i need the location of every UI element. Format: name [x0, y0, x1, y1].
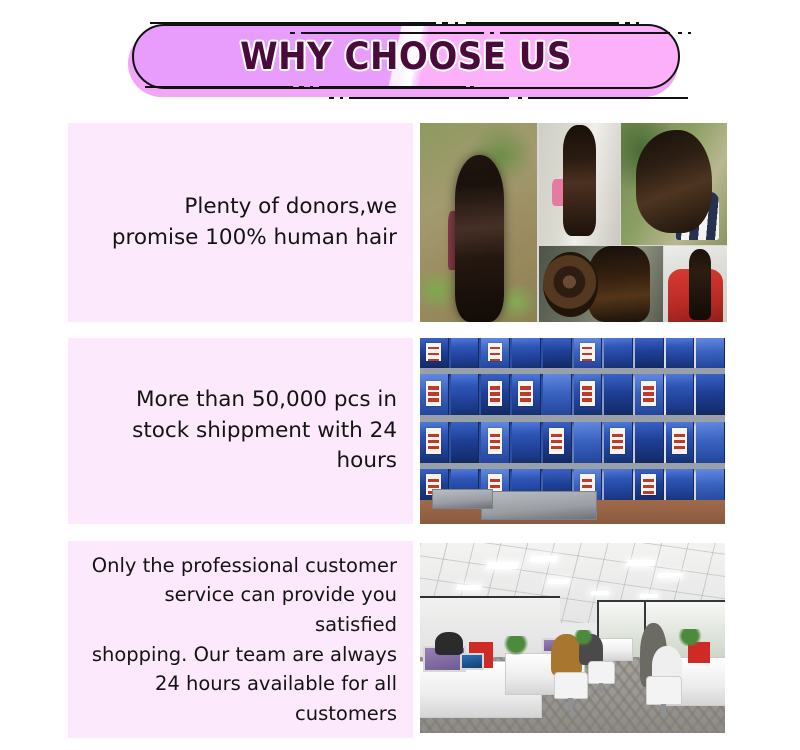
storage-bin: [543, 422, 572, 463]
decorative-dash-line: [678, 32, 682, 34]
storage-bin: [666, 374, 695, 415]
feature-row-service: Only the professional customer service c…: [0, 541, 800, 738]
banner: WHY CHOOSE US: [0, 0, 800, 112]
storage-bin: [635, 422, 664, 463]
decorative-dash-line: [518, 97, 522, 99]
employee: [435, 632, 462, 655]
decorative-dash-line: [329, 97, 334, 99]
photo-ponytail-outdoors: [621, 123, 727, 245]
ceiling-light: [529, 556, 558, 562]
storage-bin: [696, 338, 725, 368]
storage-bin: [451, 422, 480, 463]
office-chair: [554, 672, 588, 699]
floor-crate: [481, 491, 597, 521]
storage-bin: [604, 338, 633, 368]
storage-bin: [420, 374, 449, 415]
storage-bin: [666, 338, 695, 368]
page-title: WHY CHOOSE US: [154, 24, 658, 89]
storage-bin: [451, 338, 480, 368]
laptop: [460, 653, 484, 670]
bin-label: [426, 381, 441, 406]
ceiling-light: [486, 562, 518, 569]
ceiling-light: [657, 573, 683, 578]
shelf-rail: [420, 368, 725, 375]
feature-text-panel: Only the professional customer service c…: [68, 541, 413, 738]
photo-ponytail-red-shirt: [664, 246, 727, 322]
storage-bin: [635, 469, 664, 502]
storage-bin: [574, 374, 603, 415]
bin-label: [518, 381, 533, 406]
ceiling-light: [547, 579, 570, 584]
plant: [573, 630, 594, 645]
photo-hair-bun: [539, 246, 663, 322]
storage-bin: [543, 374, 572, 415]
office-scene: [420, 543, 725, 733]
decorative-dash-line: [340, 97, 343, 99]
plant: [676, 629, 703, 646]
storage-bin: [420, 338, 449, 368]
bin-label: [641, 474, 656, 495]
warehouse-scene: [420, 338, 725, 524]
ceiling-light: [627, 560, 656, 566]
feature-text-panel: More than 50,000 pcs in stock shippment …: [68, 338, 413, 524]
feature-text: Only the professional customer service c…: [68, 551, 413, 729]
storage-bin: [481, 422, 510, 463]
storage-bin: [451, 374, 480, 415]
floor-crate: [432, 489, 493, 509]
ceiling-light: [590, 591, 609, 595]
decorative-dash-line: [349, 97, 509, 99]
ceiling-light: [456, 585, 482, 590]
decorative-dash-line: [528, 97, 688, 99]
bin-label: [610, 428, 625, 453]
storage-bin: [666, 469, 695, 502]
why-choose-us-infographic: WHY CHOOSE US Plenty of donors,we promis…: [0, 0, 800, 750]
feature-text: More than 50,000 pcs in stock shippment …: [118, 385, 413, 477]
storage-bin: [512, 338, 541, 368]
bin-label: [426, 343, 441, 361]
shelf-rail: [420, 463, 725, 470]
bin-label: [488, 343, 503, 361]
bin-label: [580, 381, 595, 406]
collage: [420, 123, 727, 322]
storage-bin: [574, 338, 603, 368]
storage-bin: [666, 422, 695, 463]
bin-label: [426, 428, 441, 453]
storage-bin: [696, 374, 725, 415]
bin-label: [672, 428, 687, 453]
office-photo: [420, 543, 725, 733]
storage-bin: [574, 422, 603, 463]
office-chair: [588, 661, 615, 684]
ceiling-light: [639, 594, 658, 598]
decorative-dash-line: [688, 32, 691, 34]
storage-bin: [481, 338, 510, 368]
hair-donor-collage: [420, 123, 727, 322]
warehouse-photo: [420, 338, 725, 524]
plant: [502, 636, 529, 655]
feature-row-stock: More than 50,000 pcs in stock shippment …: [0, 338, 800, 524]
storage-bin: [512, 422, 541, 463]
storage-bin: [604, 374, 633, 415]
storage-bin: [604, 469, 633, 502]
storage-bin: [604, 422, 633, 463]
storage-bin: [512, 374, 541, 415]
feature-text: Plenty of donors,we promise 100% human h…: [98, 192, 413, 253]
storage-bin: [635, 374, 664, 415]
storage-bin: [635, 338, 664, 368]
office-chair: [646, 676, 683, 705]
feature-row-donors: Plenty of donors,we promise 100% human h…: [0, 123, 800, 322]
bin-label: [488, 381, 503, 406]
bin-row: [420, 422, 725, 463]
bin-label: [549, 428, 564, 453]
bin-label: [488, 428, 503, 453]
bin-row: [420, 374, 725, 415]
storage-bin: [696, 469, 725, 502]
bin-label: [641, 381, 656, 406]
bin-row: [420, 338, 725, 368]
bin-label: [580, 343, 595, 361]
photo-long-hair-indoors: [539, 123, 621, 245]
storage-bin: [696, 422, 725, 463]
photo-long-hair-outdoors: [420, 123, 537, 322]
storage-bin: [543, 338, 572, 368]
feature-text-panel: Plenty of donors,we promise 100% human h…: [68, 123, 413, 322]
storage-bin: [481, 374, 510, 415]
storage-bin: [420, 422, 449, 463]
